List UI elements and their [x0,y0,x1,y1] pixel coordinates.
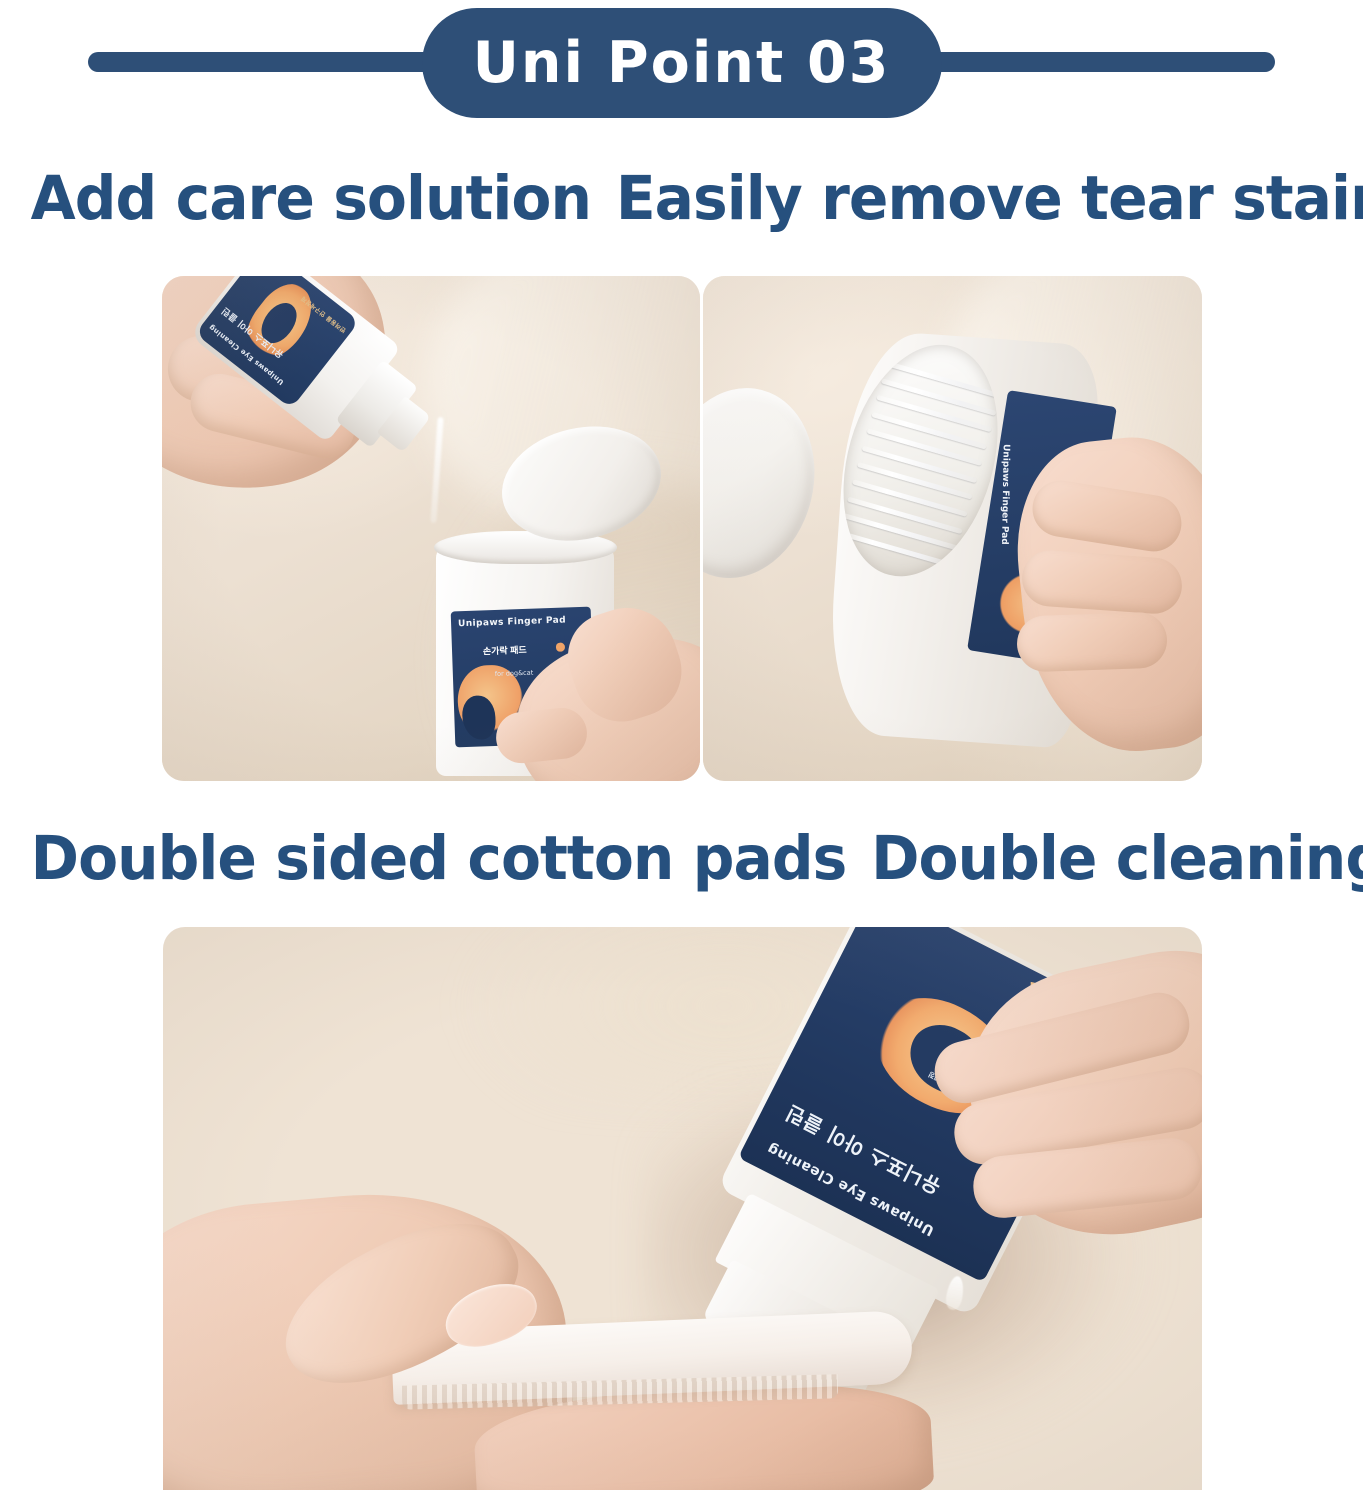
photo-open-jar-pads: Unipaws Finger Pad [703,276,1202,781]
headline-1-part-2: Easily remove tear stains [616,163,1363,234]
cotton-pad [852,479,967,517]
cotton-pad [856,462,971,500]
jar-label-korean: 손가락 패드 [482,643,526,658]
jar-label-subtitle: for dog&cat [494,669,533,678]
paw-icon [555,643,564,652]
headline-row-1: Add care solutionEasily remove tear stai… [31,163,1333,234]
cotton-pad [876,395,991,433]
hand-finger-3 [1016,612,1168,673]
cotton-pad [861,445,976,483]
scene-pour-into-jar: Unipaws Eye Cleaning 유니포스 아이 클린 반려동물 안구세… [162,276,700,781]
jar-side-label-text: Unipaws Finger Pad [999,444,1011,545]
hand-finger-2 [1021,548,1184,615]
headline-row-2: Double sided cotton padsDouble cleaning [31,823,1333,894]
cotton-pad [866,428,981,466]
scene-drop-on-pad: 유니포스 아이 클린 Unipaws Eye Cleaning 반려동물 전용 … [163,927,1202,1490]
banner-title: Uni Point 03 [473,30,891,96]
jar-label-title: Unipaws Finger Pad [457,616,565,630]
headline-1-part-1: Add care solution [31,163,591,234]
product-feature-page: Uni Point 03 Add care solutionEasily rem… [0,0,1363,1490]
mascot-eye-left [931,1038,942,1049]
banner-pill: Uni Point 03 [422,8,942,118]
cotton-pad [871,411,986,449]
cotton-pad [881,378,996,416]
scene-open-jar: Unipaws Finger Pad [703,276,1202,781]
photo-double-cleaning: 유니포스 아이 클린 Unipaws Eye Cleaning 반려동물 전용 … [163,927,1202,1490]
cotton-pad [847,496,962,534]
photo-add-care-solution: Unipaws Eye Cleaning 유니포스 아이 클린 반려동물 안구세… [162,276,700,781]
cotton-pad [842,513,957,551]
headline-2-part-1: Double sided cotton pads [31,823,847,894]
headline-2-part-2: Double cleaning [871,823,1363,894]
banner: Uni Point 03 [0,0,1363,125]
